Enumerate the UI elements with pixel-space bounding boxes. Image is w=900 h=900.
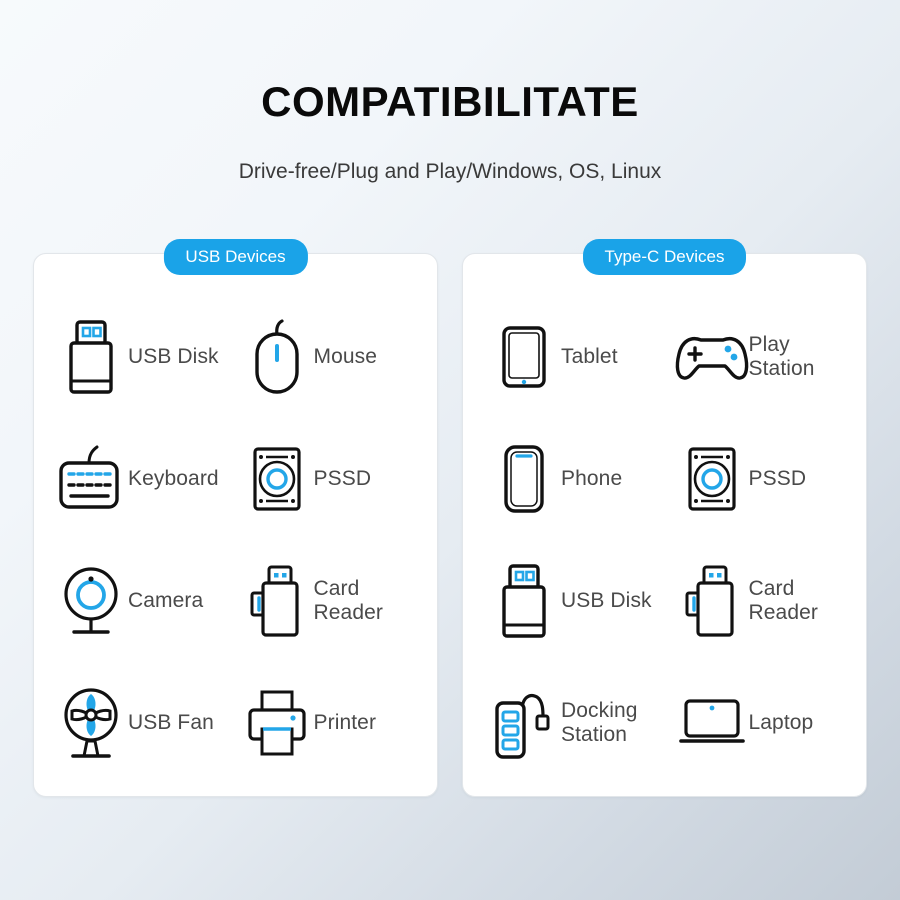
pssd-icon [240, 446, 314, 512]
gamepad-icon [675, 332, 749, 382]
usb-disk-icon [54, 319, 128, 395]
device-label: Printer [314, 711, 377, 735]
device-label: PSSD [314, 467, 372, 491]
device-label: Card Reader [749, 577, 818, 624]
device-item-camera[interactable]: Camera [34, 565, 236, 637]
device-item-docking-station[interactable]: Docking Station [463, 687, 665, 759]
page-header: COMPATIBILITATE Drive-free/Plug and Play… [0, 0, 900, 184]
device-label: Keyboard [128, 467, 219, 491]
device-label: Docking Station [561, 699, 638, 746]
panels-container: USB Devices [33, 253, 867, 797]
device-row: Camera [34, 540, 437, 662]
keyboard-icon [54, 444, 128, 514]
device-label: Phone [561, 467, 622, 491]
usb-fan-icon [54, 686, 128, 760]
device-item-laptop[interactable]: Laptop [665, 698, 867, 748]
mouse-icon [240, 318, 314, 396]
device-label: USB Fan [128, 711, 214, 735]
docking-station-icon [487, 687, 561, 759]
device-item-keyboard[interactable]: Keyboard [34, 444, 236, 514]
device-item-pssd[interactable]: PSSD [665, 446, 867, 512]
device-label: PSSD [749, 467, 807, 491]
compatibility-page: COMPATIBILITATE Drive-free/Plug and Play… [0, 0, 900, 900]
device-item-usb-fan[interactable]: USB Fan [34, 686, 236, 760]
device-row: USB Fan Printer [34, 662, 437, 784]
device-row: USB Disk [463, 540, 866, 662]
device-label: Card Reader [314, 577, 383, 624]
device-item-usb-disk[interactable]: USB Disk [463, 563, 665, 639]
usb-disk-icon [487, 563, 561, 639]
device-label: Mouse [314, 345, 378, 369]
camera-icon [54, 565, 128, 637]
page-title: COMPATIBILITATE [0, 80, 900, 124]
panel-badge-usb: USB Devices [163, 239, 307, 275]
device-rows-typec: Tablet [463, 254, 866, 784]
card-reader-icon [240, 564, 314, 638]
panel-typec-devices: Type-C Devices Tablet [462, 253, 867, 797]
device-item-card-reader[interactable]: Card Reader [236, 564, 438, 638]
device-row: Docking Station Laptop [463, 662, 866, 784]
device-label: Camera [128, 589, 203, 613]
tablet-icon [487, 325, 561, 389]
device-rows-usb: USB Disk Mouse [34, 254, 437, 784]
device-row: Phone [463, 418, 866, 540]
device-label: USB Disk [561, 589, 652, 613]
device-item-tablet[interactable]: Tablet [463, 325, 665, 389]
device-row: USB Disk Mouse [34, 296, 437, 418]
pssd-icon [675, 446, 749, 512]
printer-icon [240, 689, 314, 757]
device-item-card-reader[interactable]: Card Reader [665, 564, 867, 638]
laptop-icon [675, 698, 749, 748]
device-row: Tablet [463, 296, 866, 418]
phone-icon [487, 444, 561, 514]
card-reader-icon [675, 564, 749, 638]
device-label: Play Station [749, 333, 815, 380]
device-item-printer[interactable]: Printer [236, 689, 438, 757]
panel-usb-devices: USB Devices [33, 253, 438, 797]
device-row: Keyboard [34, 418, 437, 540]
device-item-phone[interactable]: Phone [463, 444, 665, 514]
device-label: Tablet [561, 345, 618, 369]
device-label: USB Disk [128, 345, 219, 369]
device-item-gamepad[interactable]: Play Station [665, 332, 867, 382]
page-subtitle: Drive-free/Plug and Play/Windows, OS, Li… [0, 160, 900, 184]
device-item-pssd[interactable]: PSSD [236, 446, 438, 512]
device-label: Laptop [749, 711, 814, 735]
device-item-usb-disk[interactable]: USB Disk [34, 319, 236, 395]
panel-badge-typec: Type-C Devices [583, 239, 747, 275]
device-item-mouse[interactable]: Mouse [236, 318, 438, 396]
